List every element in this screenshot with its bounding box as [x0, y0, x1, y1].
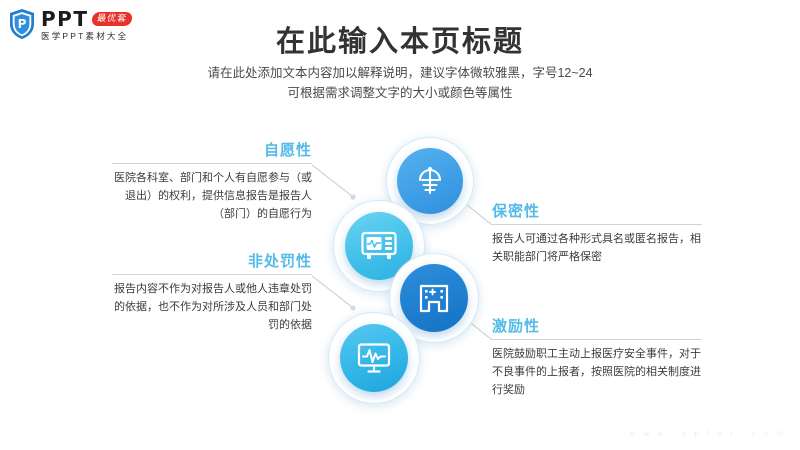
block-confidential: 保密性 报告人可通过各种形式具名或匿名报告，相关职能部门将严格保密 [492, 203, 702, 266]
block-body: 报告内容不作为对报告人或他人违章处罚的依据，也不作为对所涉及人员和部门处罚的依据 [112, 275, 312, 334]
block-heading: 保密性 [492, 203, 702, 224]
patient-monitor-icon [361, 231, 397, 261]
block-incentive: 激励性 医院鼓励职工主动上报医疗安全事件，对于不良事件的上报者，按照医院的相关制… [492, 318, 702, 399]
subtitle-line-1: 请在此处添加文本内容加以解释说明，建议字体微软雅黑，字号12~24 [0, 63, 800, 83]
node-disc [340, 324, 408, 392]
hospital-building-icon [418, 282, 450, 314]
block-heading: 非处罚性 [112, 253, 312, 274]
node-disc [400, 264, 468, 332]
subtitle-line-2: 可根据需求调整文字的大小或颜色等属性 [0, 83, 800, 103]
block-heading: 自愿性 [112, 142, 312, 163]
site-watermark: w w w . p p t e r . c o m [629, 429, 786, 438]
node-incentive[interactable] [328, 312, 420, 404]
block-body: 医院鼓励职工主动上报医疗安全事件，对于不良事件的上报者，按照医院的相关制度进行奖… [492, 340, 702, 399]
block-nonpunitive: 非处罚性 报告内容不作为对报告人或他人违章处罚的依据，也不作为对所涉及人员和部门… [112, 253, 312, 334]
block-body: 报告人可通过各种形式具名或匿名报告，相关职能部门将严格保密 [492, 225, 702, 266]
block-body: 医院各科室、部门和个人有自愿参与（或退出）的权利，提供信息报告是报告人（部门）的… [112, 164, 312, 223]
page-title: 在此输入本页标题 [0, 18, 800, 60]
slide-canvas: P PPT 最优套 医学PPT素材大全 在此输入本页标题 请在此处添加文本内容加… [0, 0, 800, 450]
caduceus-icon [413, 164, 447, 198]
block-heading: 激励性 [492, 318, 702, 339]
node-disc [397, 148, 463, 214]
block-voluntary: 自愿性 医院各科室、部门和个人有自愿参与（或退出）的权利，提供信息报告是报告人（… [112, 142, 312, 223]
ecg-monitor-icon [357, 342, 391, 374]
page-subtitle: 请在此处添加文本内容加以解释说明，建议字体微软雅黑，字号12~24 可根据需求调… [0, 63, 800, 103]
